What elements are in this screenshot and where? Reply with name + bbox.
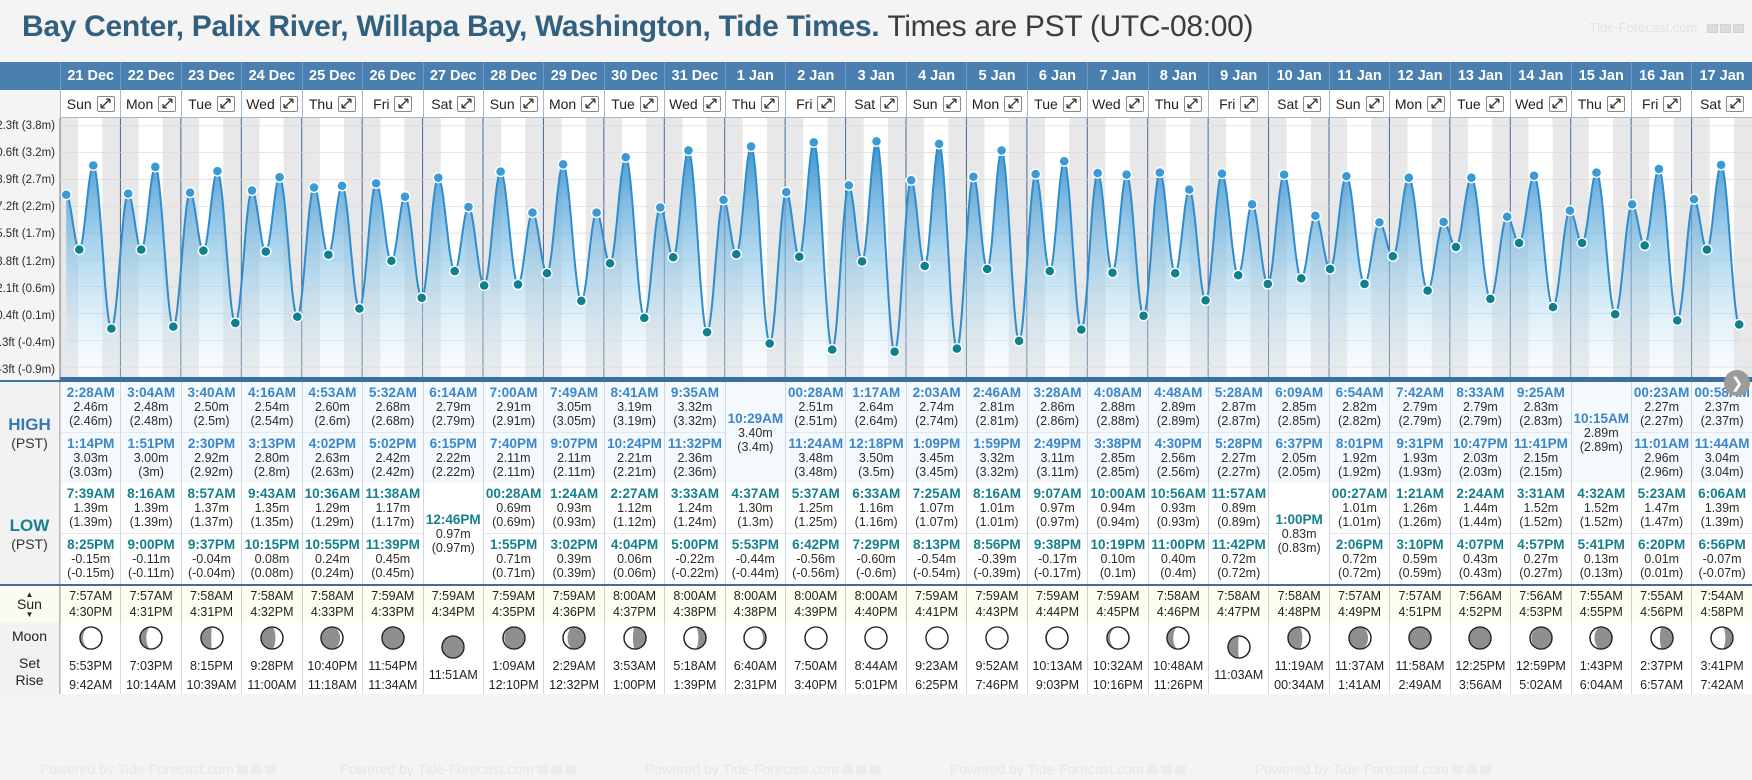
tide-cell-high-21: 6:54AM2.82m(2.82m)8:01PM1.92m(1.92m) [1329,382,1389,483]
tide-time: 3:10PM [1390,537,1449,552]
sun-cell-23: 7:56AM4:52PM [1450,586,1510,622]
tide-time: 4:02PM [303,436,362,451]
moon-label: Moon Set Rise [0,622,60,694]
tide-entry: 4:53AM2.60m(2.6m) [303,382,362,432]
date-header-10-jan: 10 Jan [1268,62,1328,90]
day-header-sat-20[interactable]: Sat [1268,90,1328,118]
expand-icon[interactable] [1663,96,1681,112]
tide-time: 11:01AM [1632,436,1691,451]
tide-height-paren: (2.05m) [1269,465,1328,479]
date-header-12-jan: 12 Jan [1389,62,1449,90]
tide-height-m: 2.81m [967,400,1026,414]
tide-height-paren: (2.5m) [182,414,241,428]
moonset-time: 10:48AM [1153,657,1203,675]
tide-height-paren: (1.39m) [121,515,180,529]
expand-icon[interactable] [640,96,658,112]
tide-cell-low-3: 9:43AM1.35m(1.35m)10:15PM0.08m(0.08m) [241,483,301,584]
moonrise-time: 6:57AM [1640,676,1683,694]
tide-entry: 3:13PM2.80m(2.8m) [242,432,301,483]
day-header-tue-23[interactable]: Tue [1450,90,1510,118]
tide-height-m: 0.93m [544,501,603,515]
day-header-sat-6[interactable]: Sat [423,90,483,118]
tide-height-m: 2.05m [1269,451,1328,465]
sun-cell-25: 7:55AM4:55PM [1571,586,1631,622]
tide-time: 6:14AM [424,385,483,400]
tide-height-m: 3.03m [61,451,120,465]
day-name: Tue [611,96,635,112]
tide-time: 6:06AM [1692,486,1751,501]
day-header-sun-0[interactable]: Sun [60,90,120,118]
tide-entry: 10:55PM0.24m(0.24m) [303,533,362,584]
tide-cell-low-20: 1:00PM0.83m(0.83m) [1268,483,1328,584]
tide-height-m: 0.94m [1088,501,1147,515]
y-tick-3: 7.2ft (2.2m) [0,201,55,213]
moonset-time: 6:40AM [734,657,777,675]
tide-entry: 4:57PM0.27m(0.27m) [1511,533,1570,584]
date-header-4-jan: 4 Jan [906,62,966,90]
moonrise-time: 11:26PM [1154,676,1203,694]
tide-height-m: 2.68m [363,400,422,414]
tide-entry: 3:10PM0.59m(0.59m) [1390,533,1449,584]
tide-cell-high-22: 7:42AM2.79m(2.79m)9:31PM1.93m(1.93m) [1389,382,1449,483]
tide-entry: 1:24AM0.93m(0.93m) [544,483,603,533]
moon-phase-icon [924,625,950,656]
tide-entry: 10:19PM0.10m(0.1m) [1088,533,1147,584]
sunrise-time: 7:57AM [1398,588,1441,605]
tide-entry: 8:16AM1.39m(1.39m) [121,483,180,533]
day-header-tue-2[interactable]: Tue [181,90,241,118]
sun-label: ▲ Sun ▼ [0,586,60,622]
tide-height-paren: (2.8m) [242,465,301,479]
tide-height-m: 1.52m [1511,501,1570,515]
tide-height-paren: (3.32m) [967,465,1026,479]
tide-height-paren: (2.92m) [182,465,241,479]
tide-time: 2:46AM [967,385,1026,400]
tide-time: 8:13PM [907,537,966,552]
tide-entry: 1:51PM3.00m(3m) [121,432,180,483]
tide-height-m: 0.01m [1632,552,1691,566]
expand-icon[interactable] [338,96,356,112]
tide-entry: 9:07PM2.11m(2.11m) [544,432,603,483]
tide-entry: 11:01AM2.96m(2.96m) [1632,432,1691,483]
moonrise-time: 10:16PM [1093,676,1143,694]
tide-height-m: 2.64m [846,400,905,414]
tide-time: 2:30PM [182,436,241,451]
sunrise-time: 7:59AM [975,588,1018,605]
tide-height-paren: (3.45m) [907,465,966,479]
scroll-right-button[interactable]: ❯ [1724,370,1750,396]
tide-height-m: 0.71m [484,552,543,566]
tide-entry: 7:49AM3.05m(3.05m) [544,382,603,432]
sunrise-time: 7:58AM [311,588,354,605]
tide-height-m: 1.39m [1692,501,1751,515]
location-title: Bay Center, Palix River, Willapa Bay, Wa… [22,10,879,43]
tide-entry: 2:28AM2.46m(2.46m) [61,382,120,432]
expand-icon[interactable] [158,96,176,112]
expand-icon[interactable] [457,96,475,112]
expand-icon[interactable] [1486,96,1504,112]
tide-height-m: 3.19m [605,400,664,414]
moon-cell-18: 10:48AM11:26PM [1148,622,1208,694]
day-header-fri-19[interactable]: Fri [1208,90,1268,118]
day-header-tue-16[interactable]: Tue [1027,90,1087,118]
tide-cell-low-5: 11:38AM1.17m(1.17m)11:39PM0.45m(0.45m) [362,483,422,584]
expand-icon[interactable] [97,96,115,112]
tide-entry: 7:00AM2.91m(2.91m) [484,382,543,432]
tide-entry: 11:38AM1.17m(1.17m) [363,483,422,533]
tide-time: 3:40AM [182,385,241,400]
tide-time: 7:39AM [61,486,120,501]
tide-time: 3:04AM [121,385,180,400]
tide-height-paren: (-0.11m) [121,566,180,580]
high-tide-label: HIGH (PST) [0,382,60,483]
tide-forecast-page: Bay Center, Palix River, Willapa Bay, Wa… [0,0,1752,780]
tide-height-paren: (0.97m) [424,541,483,555]
moon-cell-9: 3:53AM1:00PM [604,622,664,694]
tide-entry: 10:56AM0.93m(0.93m) [1149,483,1208,533]
sunset-time: 4:51PM [1398,604,1441,621]
tide-time: 7:25AM [907,486,966,501]
moonset-time: 5:53PM [69,657,112,675]
y-tick-7: 0.4ft (0.1m) [0,310,55,322]
tide-time: 1:00PM [1269,512,1328,527]
tide-entry: 1:55PM0.71m(0.71m) [484,533,543,584]
tide-entry: 2:03AM2.74m(2.74m) [907,382,966,432]
sunrise-time: 7:59AM [1036,588,1079,605]
expand-icon[interactable] [1063,96,1081,112]
sun-cell-1: 7:57AM4:31PM [120,586,180,622]
tide-entry: 4:07PM0.43m(0.43m) [1451,533,1510,584]
tide-entry: 6:33AM1.16m(1.16m) [846,483,905,533]
date-header-21-dec: 21 Dec [60,62,120,90]
tide-height-paren: (0.83m) [1269,541,1328,555]
moon-phase-icon [1528,625,1554,656]
moon-phase-icon [803,625,829,656]
expand-icon[interactable] [394,96,412,112]
day-header-thu-4[interactable]: Thu [302,90,362,118]
expand-icon[interactable] [217,96,235,112]
tide-height-paren: (2.85m) [1269,414,1328,428]
moon-phase-icon [199,625,225,656]
expand-icon[interactable] [1004,96,1022,112]
tide-height-paren: (1.92m) [1330,465,1389,479]
moonset-time: 11:54PM [368,657,417,675]
day-header-sun-14[interactable]: Sun [906,90,966,118]
sunset-time: 4:49PM [1338,604,1381,621]
tide-time: 2:06PM [1330,537,1389,552]
tide-time: 4:57PM [1511,537,1570,552]
tide-height-paren: (-0.15m) [61,566,120,580]
moonset-time: 3:41PM [1701,657,1744,675]
day-header-wed-3[interactable]: Wed [241,90,301,118]
expand-icon[interactable] [280,96,298,112]
tide-cell-low-24: 3:31AM1.52m(1.52m)4:57PM0.27m(0.27m) [1510,483,1570,584]
tide-height-paren: (0.72m) [1330,566,1389,580]
tide-time: 7:49AM [544,385,603,400]
day-header-thu-25[interactable]: Thu [1571,90,1631,118]
tide-entry: 11:00PM0.40m(0.4m) [1149,533,1208,584]
low-label-text: LOW [10,516,50,536]
sun-cell-19: 7:58AM4:47PM [1208,586,1268,622]
moonset-time: 8:15PM [190,657,233,675]
tide-time: 11:38AM [363,486,422,501]
day-header-fri-5[interactable]: Fri [362,90,422,118]
tide-time: 2:03AM [907,385,966,400]
tide-entry: 8:33AM2.79m(2.79m) [1451,382,1510,432]
day-header-mon-22[interactable]: Mon [1389,90,1449,118]
moonset-time: 10:32AM [1093,657,1143,675]
day-header-tue-9[interactable]: Tue [604,90,664,118]
moon-phase-icon [984,625,1010,656]
sunset-time: 4:39PM [794,604,837,621]
tide-height-m: 2.83m [1511,400,1570,414]
day-header-fri-26[interactable]: Fri [1631,90,1691,118]
tide-height-m: 2.63m [303,451,362,465]
tide-time: 4:30PM [1149,436,1208,451]
moonrise-time: 12:32PM [549,676,599,694]
expand-icon[interactable] [1366,96,1384,112]
moon-phase-icon [561,625,587,656]
tide-entry: 10:15AM2.89m(2.89m) [1572,408,1631,458]
day-name: Mon [549,96,576,112]
moon-phase-icon [138,625,164,656]
tide-height-paren: (-0.6m) [846,566,905,580]
tide-height-paren: (1.16m) [846,515,905,529]
moonset-time: 5:18AM [673,657,716,675]
tide-cell-low-7: 00:28AM0.69m(0.69m)1:55PM0.71m(0.71m) [483,483,543,584]
tide-height-m: 3.11m [1028,451,1087,465]
tide-cell-low-9: 2:27AM1.12m(1.12m)4:04PM0.06m(0.06m) [604,483,664,584]
tide-height-m: 2.79m [424,400,483,414]
day-header-wed-24[interactable]: Wed [1510,90,1570,118]
tide-height-paren: (0.43m) [1451,566,1510,580]
tide-time: 9:38PM [1028,537,1087,552]
day-name: Thu [1578,96,1602,112]
tide-height-paren: (0.69m) [484,515,543,529]
tide-time: 1:14PM [61,436,120,451]
expand-icon[interactable] [880,96,898,112]
tide-height-paren: (2.03m) [1451,465,1510,479]
expand-icon[interactable] [703,96,721,112]
tide-entry: 7:29PM-0.60m(-0.6m) [846,533,905,584]
tide-cell-high-27: 00:58AM2.37m(2.37m)11:44AM3.04m(3.04m) [1691,382,1751,483]
sunrise-time: 7:56AM [1459,588,1502,605]
day-header-sun-7[interactable]: Sun [483,90,543,118]
sunrise-time: 7:58AM [1157,588,1200,605]
sunset-time: 4:47PM [1217,604,1260,621]
tide-entry: 8:57AM1.37m(1.37m) [182,483,241,533]
tide-time: 1:51PM [121,436,180,451]
expand-icon[interactable] [1427,96,1445,112]
sun-cell-10: 8:00AM4:38PM [664,586,724,622]
tide-height-paren: (1.26m) [1390,515,1449,529]
day-header-sat-13[interactable]: Sat [845,90,905,118]
expand-icon[interactable] [1184,96,1202,112]
tide-height-paren: (2.81m) [967,414,1026,428]
moon-phase-icon [682,625,708,656]
tide-entry: 11:42PM0.72m(0.72m) [1209,533,1268,584]
date-header-11-jan: 11 Jan [1329,62,1389,90]
tide-height-m: 3.05m [544,400,603,414]
day-name: Sat [854,96,875,112]
tide-entry: 10:24PM2.21m(2.21m) [605,432,664,483]
tide-entry: 9:43AM1.35m(1.35m) [242,483,301,533]
tide-height-m: 3.32m [967,451,1026,465]
tide-entry: 6:15PM2.22m(2.22m) [424,432,483,483]
tide-cell-high-5: 5:32AM2.68m(2.68m)5:02PM2.42m(2.42m) [362,382,422,483]
sun-cell-16: 7:59AM4:44PM [1027,586,1087,622]
tide-cell-low-22: 1:21AM1.26m(1.26m)3:10PM0.59m(0.59m) [1389,483,1449,584]
tide-height-paren: (0.24m) [303,566,362,580]
tide-height-m: 2.54m [242,400,301,414]
sun-cell-26: 7:55AM4:56PM [1631,586,1691,622]
sunset-time: 4:44PM [1036,604,1079,621]
tide-time: 6:56PM [1692,537,1751,552]
tide-time: 5:00PM [665,537,724,552]
expand-icon[interactable] [761,96,779,112]
moonset-time: 7:50AM [794,657,837,675]
footer-watermark-1: Powered by Tide-Forecast.com [40,761,276,777]
expand-icon[interactable] [581,96,599,112]
moon-phase-icon [1226,634,1252,665]
tide-cell-low-8: 1:24AM0.93m(0.93m)3:02PM0.39m(0.39m) [543,483,603,584]
day-header-fri-12[interactable]: Fri [785,90,845,118]
sunrise-time: 8:00AM [673,588,716,605]
tide-time: 11:00PM [1149,537,1208,552]
expand-icon[interactable] [520,96,538,112]
tide-height-m: 2.48m [121,400,180,414]
tide-height-paren: (2.54m) [242,414,301,428]
tide-cell-high-19: 5:28AM2.87m(2.87m)5:28PM2.27m(2.27m) [1208,382,1268,483]
day-header-sun-21[interactable]: Sun [1329,90,1389,118]
sunrise-time: 8:00AM [734,588,777,605]
expand-icon[interactable] [1240,96,1258,112]
day-header-wed-17[interactable]: Wed [1087,90,1147,118]
sunset-time: 4:56PM [1640,604,1683,621]
tide-height-m: 0.97m [424,527,483,541]
tide-height-paren: (2.48m) [121,414,180,428]
tide-entry: 8:01PM1.92m(1.92m) [1330,432,1389,483]
tide-height-paren: (1.12m) [605,515,664,529]
day-header-mon-15[interactable]: Mon [966,90,1026,118]
day-header-wed-10[interactable]: Wed [664,90,724,118]
sunrise-time: 7:57AM [130,588,173,605]
sunrise-time: 7:58AM [250,588,293,605]
tide-height-m: 3.48m [786,451,845,465]
tide-entry: 11:44AM3.04m(3.04m) [1692,432,1751,483]
moonrise-time: 2:31PM [734,676,777,694]
sun-cell-5: 7:59AM4:33PM [362,586,422,622]
day-header-thu-18[interactable]: Thu [1148,90,1208,118]
tide-height-m: 2.03m [1451,451,1510,465]
tide-height-paren: (0.97m) [1028,515,1087,529]
tide-height-paren: (2.74m) [907,414,966,428]
tide-entry: 9:38PM-0.17m(-0.17m) [1028,533,1087,584]
expand-icon[interactable] [1549,96,1567,112]
tide-cell-high-23: 8:33AM2.79m(2.79m)10:47PM2.03m(2.03m) [1450,382,1510,483]
tide-height-m: 1.44m [1451,501,1510,515]
expand-icon[interactable] [817,96,835,112]
day-header-thu-11[interactable]: Thu [725,90,785,118]
tide-entry: 10:00AM0.94m(0.94m) [1088,483,1147,533]
moon-cell-25: 1:43PM6:04AM [1571,622,1631,694]
tide-height-m: 3.32m [665,400,724,414]
moonrise-time: 00:34AM [1274,676,1324,694]
y-tick-2: 8.9ft (2.7m) [0,174,55,186]
tide-height-paren: (0.08m) [242,566,301,580]
tide-height-paren: (2.56m) [1149,465,1208,479]
moonrise-time: 1:00PM [613,676,656,694]
sunset-time: 4:48PM [1278,604,1321,621]
sunrise-time: 7:57AM [1338,588,1381,605]
expand-icon[interactable] [1303,96,1321,112]
tide-entry: 6:42PM-0.56m(-0.56m) [786,533,845,584]
tide-entry: 11:32PM2.36m(2.36m) [665,432,724,483]
tide-height-paren: (3.48m) [786,465,845,479]
moonrise-time: 6:04AM [1580,676,1623,694]
sunset-time: 4:46PM [1157,604,1200,621]
tide-height-paren: (1.24m) [665,515,724,529]
expand-icon[interactable] [1607,96,1625,112]
tide-height-m: 2.87m [1209,400,1268,414]
expand-icon[interactable] [1726,96,1744,112]
sunset-time: 4:38PM [734,604,777,621]
date-header-14-jan: 14 Jan [1510,62,1570,90]
moonrise-time: 11:51AM [429,666,478,684]
tide-height-paren: (2.6m) [303,414,362,428]
day-name: Thu [732,96,756,112]
day-name: Tue [1457,96,1481,112]
day-header-mon-1[interactable]: Mon [120,90,180,118]
tide-entry: 00:28AM0.69m(0.69m) [484,483,543,533]
sun-cell-17: 7:59AM4:45PM [1087,586,1147,622]
tide-height-m: 0.83m [1269,527,1328,541]
sunset-time: 4:37PM [613,604,656,621]
tide-entry: 4:37AM1.30m(1.3m) [726,483,785,533]
tide-height-m: 2.42m [363,451,422,465]
day-header-mon-8[interactable]: Mon [543,90,603,118]
sun-cell-20: 7:58AM4:48PM [1268,586,1328,622]
sunset-time: 4:30PM [69,604,112,621]
tide-height-paren: (1.47m) [1632,515,1691,529]
expand-icon[interactable] [1126,96,1144,112]
tide-time: 10:00AM [1088,486,1147,501]
sunrise-time: 7:59AM [915,588,958,605]
moon-phase-icon [259,625,285,656]
tide-height-m: 2.27m [1209,451,1268,465]
moon-row: Moon Set Rise 5:53PM9:42AM7:03PM10:14AM8… [0,622,1752,694]
tide-height-paren: (1.39m) [61,515,120,529]
tide-height-paren: (-0.39m) [967,566,1026,580]
moon-cell-6: 11:51AM [423,622,483,694]
tide-time: 11:41PM [1511,436,1570,451]
tide-time: 00:23AM [1632,385,1691,400]
tide-cell-high-9: 8:41AM3.19m(3.19m)10:24PM2.21m(2.21m) [604,382,664,483]
tide-cell-high-6: 6:14AM2.79m(2.79m)6:15PM2.22m(2.22m) [423,382,483,483]
day-header-sat-27[interactable]: Sat [1691,90,1751,118]
tide-cell-high-0: 2:28AM2.46m(2.46m)1:14PM3.03m(3.03m) [60,382,120,483]
tide-time: 00:28AM [484,486,543,501]
tide-height-paren: (0.89m) [1209,515,1268,529]
moon-phase-icon [1044,625,1070,656]
tide-height-paren: (-0.04m) [182,566,241,580]
expand-icon[interactable] [943,96,961,112]
sun-cell-14: 7:59AM4:41PM [906,586,966,622]
sunrise-time: 7:59AM [553,588,596,605]
tide-height-paren: (2.96m) [1632,465,1691,479]
tide-entry: 5:28PM2.27m(2.27m) [1209,432,1268,483]
tide-cell-low-27: 6:06AM1.39m(1.39m)6:56PM-0.07m(-0.07m) [1691,483,1751,584]
